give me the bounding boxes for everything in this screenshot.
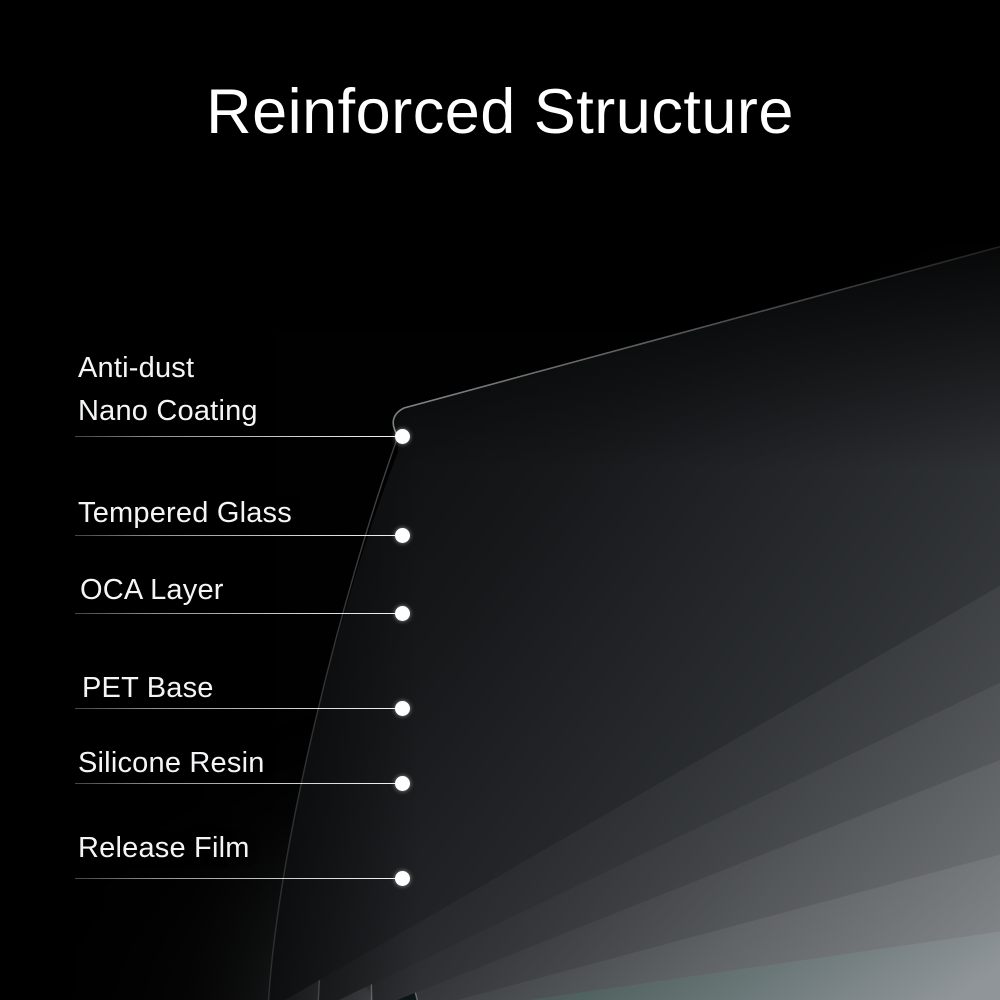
page-title: Reinforced Structure (0, 78, 1000, 147)
leader-dot-release-film (395, 871, 410, 886)
leader-dot-silicone-resin (395, 776, 410, 791)
leader-dot-pet-base (395, 701, 410, 716)
leader-line-silicone-resin (75, 783, 402, 784)
leader-line-release-film (75, 878, 402, 879)
leader-line-oca-layer (75, 613, 402, 614)
callout-label-anti-dust-nano-coating: Anti-dust Nano Coating (78, 347, 258, 433)
leader-line-anti-dust-nano-coating (75, 436, 402, 437)
callout-label-silicone-resin: Silicone Resin (78, 742, 265, 785)
callout-label-oca-layer: OCA Layer (80, 569, 224, 612)
callout-label-release-film: Release Film (78, 827, 250, 870)
leader-dot-tempered-glass (395, 528, 410, 543)
leader-line-pet-base (75, 708, 402, 709)
callout-label-pet-base: PET Base (82, 667, 214, 710)
leader-line-tempered-glass (75, 535, 402, 536)
product-infographic: Reinforced Structure Anti-dust Nano Coat… (0, 0, 1000, 1000)
leader-dot-oca-layer (395, 606, 410, 621)
leader-dot-anti-dust-nano-coating (395, 429, 410, 444)
callout-label-tempered-glass: Tempered Glass (78, 492, 292, 535)
